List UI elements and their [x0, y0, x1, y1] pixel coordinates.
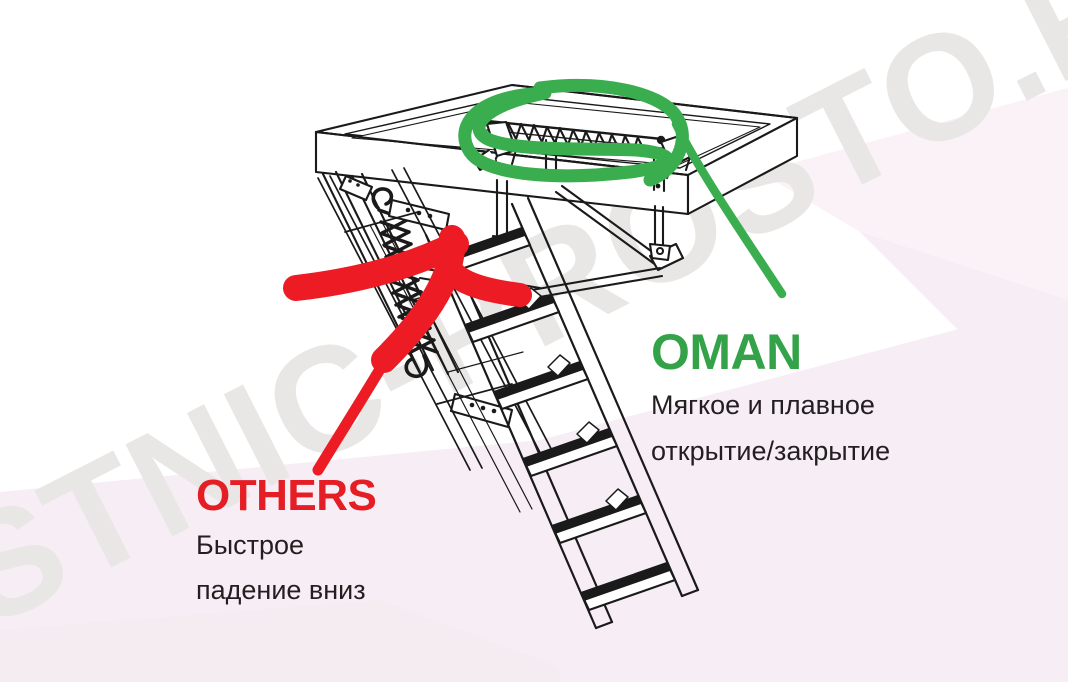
poster-canvas: LESTNIC-PROSTO.RU [0, 0, 1068, 682]
marker-annotations [0, 0, 1068, 682]
green-circle-mark [465, 86, 782, 294]
red-arrow-mark [296, 238, 520, 470]
